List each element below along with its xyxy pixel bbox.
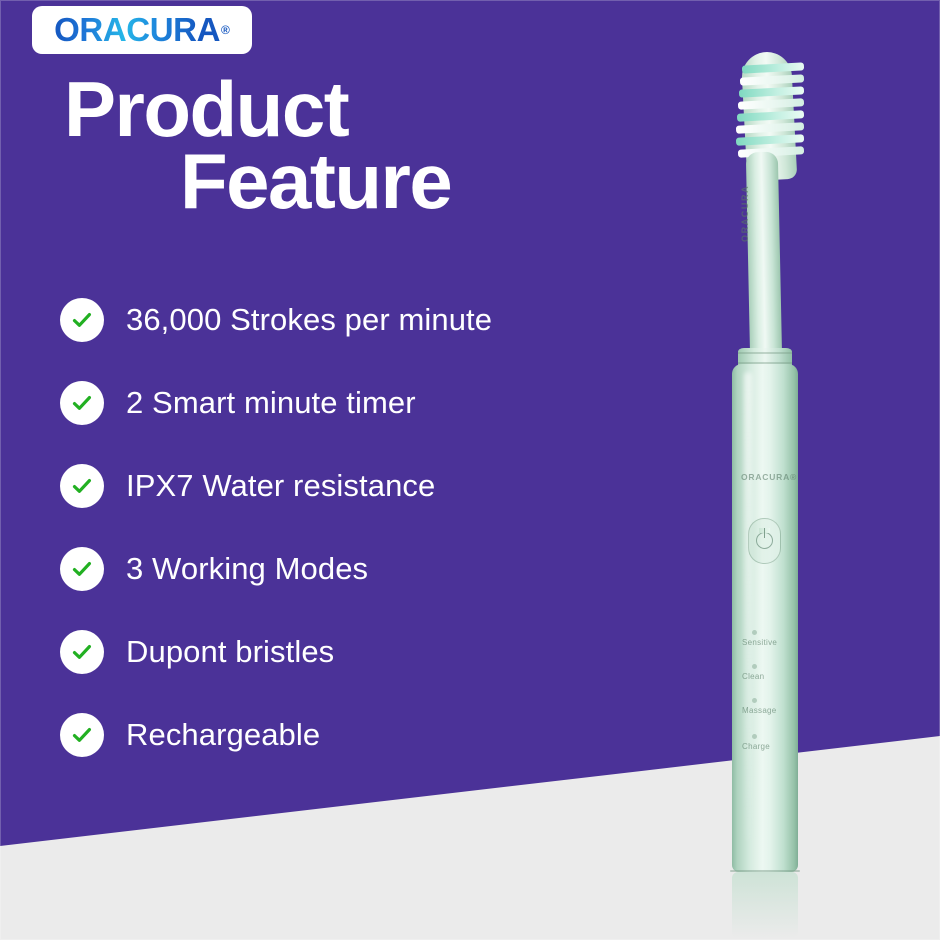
poster-canvas: ORACURA® Product Feature 36,000 Strokes … <box>0 0 940 940</box>
registered-trademark-icon: ® <box>221 23 230 37</box>
mode-indicator-clean: Clean <box>742 664 802 681</box>
check-icon <box>60 630 104 674</box>
check-icon <box>60 713 104 757</box>
feature-label: 3 Working Modes <box>126 551 368 587</box>
mode-led-icon <box>752 664 757 669</box>
handle-highlight <box>744 372 752 842</box>
mode-led-icon <box>752 698 757 703</box>
mode-led-icon <box>752 630 757 635</box>
feature-label: Rechargeable <box>126 717 320 753</box>
product-image-toothbrush: ORACURA ORACURA® Sensitive Clean Massage… <box>700 52 870 882</box>
page-title: Product Feature <box>64 74 624 218</box>
list-item: 36,000 Strokes per minute <box>60 296 680 344</box>
feature-label: Dupont bristles <box>126 634 334 670</box>
feature-label: 36,000 Strokes per minute <box>126 302 492 338</box>
mode-indicator-charge: Charge <box>742 734 802 751</box>
list-item: 3 Working Modes <box>60 545 680 593</box>
check-icon <box>60 464 104 508</box>
mode-led-icon <box>752 734 757 739</box>
brand-logo-badge[interactable]: ORACURA® <box>32 6 252 54</box>
check-icon <box>60 298 104 342</box>
mode-label: Clean <box>742 672 802 681</box>
brush-handle-body <box>732 364 798 872</box>
check-icon <box>60 381 104 425</box>
mode-label: Massage <box>742 706 802 715</box>
list-item: Dupont bristles <box>60 628 680 676</box>
feature-list: 36,000 Strokes per minute 2 Smart minute… <box>60 296 680 794</box>
headline-line-2: Feature <box>64 146 624 218</box>
list-item: 2 Smart minute timer <box>60 379 680 427</box>
feature-label: IPX7 Water resistance <box>126 468 435 504</box>
mode-label: Sensitive <box>742 638 802 647</box>
brand-logo-text: ORACURA <box>54 11 220 49</box>
list-item: IPX7 Water resistance <box>60 462 680 510</box>
power-icon-stem <box>764 528 766 538</box>
mode-label: Charge <box>742 742 802 751</box>
brush-neck <box>746 152 782 363</box>
mode-indicator-sensitive: Sensitive <box>742 630 802 647</box>
mode-indicator-massage: Massage <box>742 698 802 715</box>
check-icon <box>60 547 104 591</box>
joint-ring-line <box>738 352 792 354</box>
list-item: Rechargeable <box>60 711 680 759</box>
feature-label: 2 Smart minute timer <box>126 385 416 421</box>
body-brand-label: ORACURA® <box>741 472 797 482</box>
neck-brand-label: ORACURA <box>740 185 750 242</box>
product-reflection <box>732 872 798 938</box>
